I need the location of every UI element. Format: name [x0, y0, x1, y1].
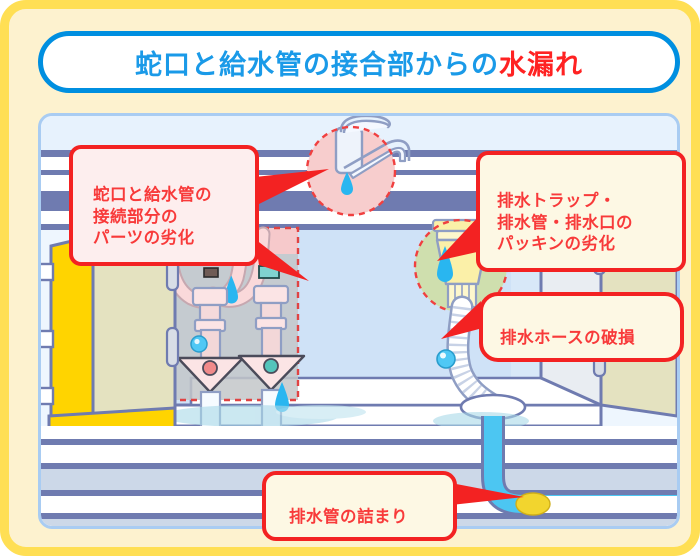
drain-hose-drop: [437, 350, 455, 368]
page-title-prefix: 蛇口と給水管の接合部からの: [135, 50, 499, 81]
callout-drain-hose-damage[interactable]: 排水ホースの破損: [479, 292, 684, 362]
hose-clamp-left: [204, 268, 218, 277]
callout-supply-text: 蛇口と給水管の 接続部分の パーツの劣化: [93, 185, 212, 248]
page-title: 蛇口と給水管の接合部からの水漏れ: [135, 43, 583, 82]
hinge-left-lower: [167, 328, 178, 366]
callout-supply-joint-deterioration[interactable]: 蛇口と給水管の 接続部分の パーツの劣化: [69, 145, 259, 266]
drain-clog: [516, 493, 550, 515]
page-title-highlight: 水漏れ: [499, 50, 583, 81]
callout-drain-pipe-clog[interactable]: 排水管の詰まり: [262, 471, 457, 541]
hose-clamp-right: [259, 266, 279, 278]
callout-hose-text: 排水ホースの破損: [500, 328, 635, 347]
callout-clog-text: 排水管の詰まり: [289, 507, 408, 526]
cabinet-door-left: [41, 236, 175, 441]
infographic-poster: 蛇口と給水管の接合部からの水漏れ: [0, 0, 700, 556]
title-banner: 蛇口と給水管の接合部からの水漏れ: [38, 31, 680, 93]
callout-trap-text: 排水トラップ・ 排水管・排水口の パッキンの劣化: [497, 191, 633, 254]
callout-trap-packing-deterioration[interactable]: 排水トラップ・ 排水管・排水口の パッキンの劣化: [476, 151, 686, 272]
